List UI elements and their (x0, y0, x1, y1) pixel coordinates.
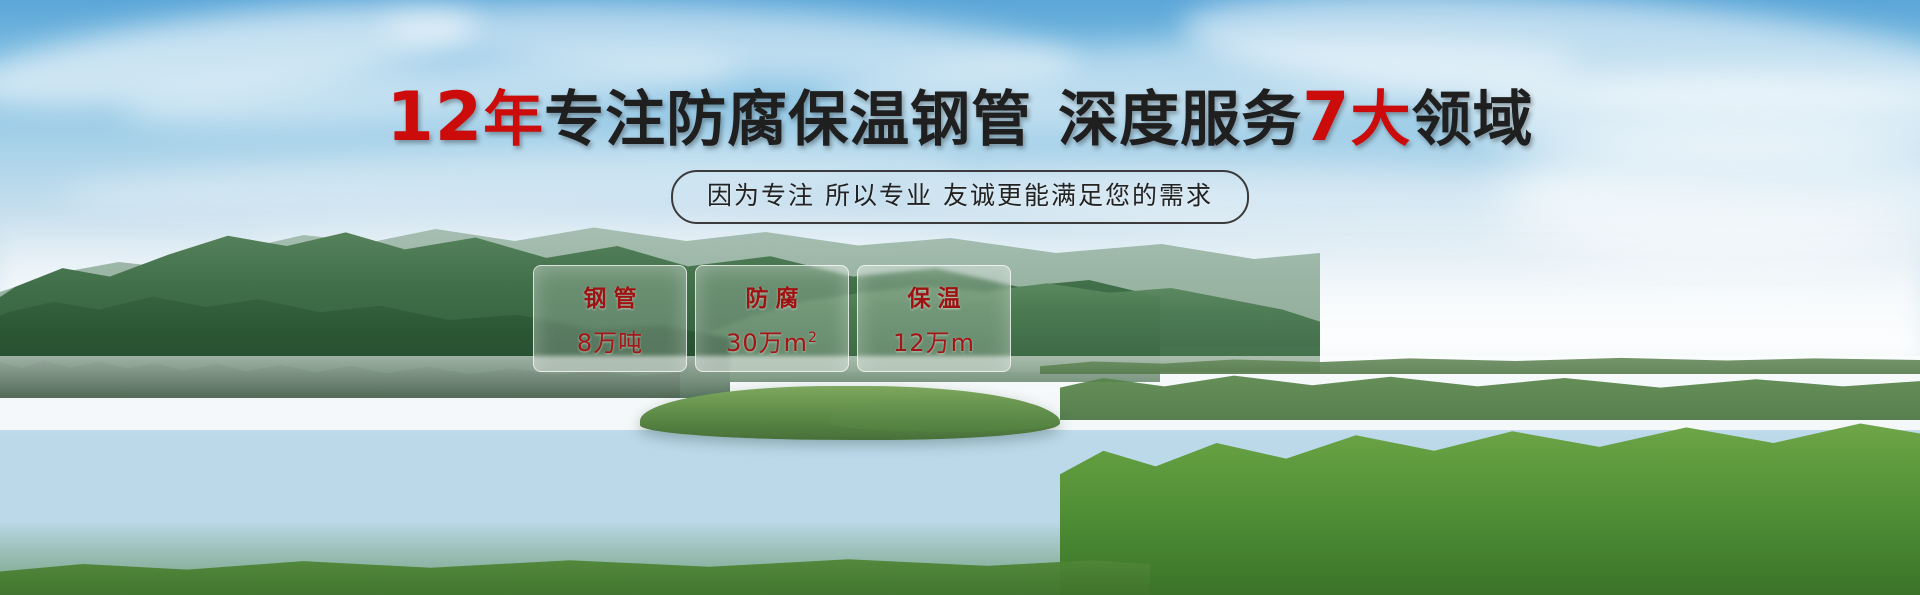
stat-value-superscript: 2 (808, 330, 818, 346)
stat-value-text: 12万m (893, 329, 975, 357)
stat-card-group: 钢管 8万吨 防腐 30万m2 保温 12万m (533, 265, 1011, 372)
stat-card-value: 30万m2 (726, 323, 818, 358)
foreground-grass-shadow (0, 520, 1920, 595)
hero-banner: 12年专注防腐保温钢管深度服务7大领域 因为专注 所以专业 友诚更能满足您的需求… (0, 0, 1920, 595)
stat-value-text: 30万m (726, 329, 808, 357)
banner-subtitle-pill: 因为专注 所以专业 友诚更能满足您的需求 (671, 170, 1249, 224)
stat-card-baowen[interactable]: 保温 12万m (857, 265, 1011, 372)
stat-card-label: 保温 (901, 279, 968, 313)
headline-tail-text: 领域 (1411, 85, 1533, 155)
headline-fields-number: 7 (1302, 78, 1350, 157)
stat-card-value: 8万吨 (577, 323, 643, 358)
headline-years-number: 12 (387, 78, 484, 157)
stat-card-label: 防腐 (739, 279, 806, 313)
headline-service-text: 深度服务 (1058, 85, 1302, 155)
banner-headline: 12年专注防腐保温钢管深度服务7大领域 (0, 86, 1920, 152)
stat-card-value: 12万m (893, 323, 975, 358)
headline-years-unit: 年 (483, 85, 544, 155)
stat-card-gangguan[interactable]: 钢管 8万吨 (533, 265, 687, 372)
headline-focus-text: 专注防腐保温钢管 (544, 85, 1032, 155)
headline-fields-unit: 大 (1350, 85, 1411, 155)
stat-card-fangfu[interactable]: 防腐 30万m2 (695, 265, 849, 372)
stat-card-label: 钢管 (577, 279, 644, 313)
stat-value-text: 8万吨 (577, 329, 643, 357)
